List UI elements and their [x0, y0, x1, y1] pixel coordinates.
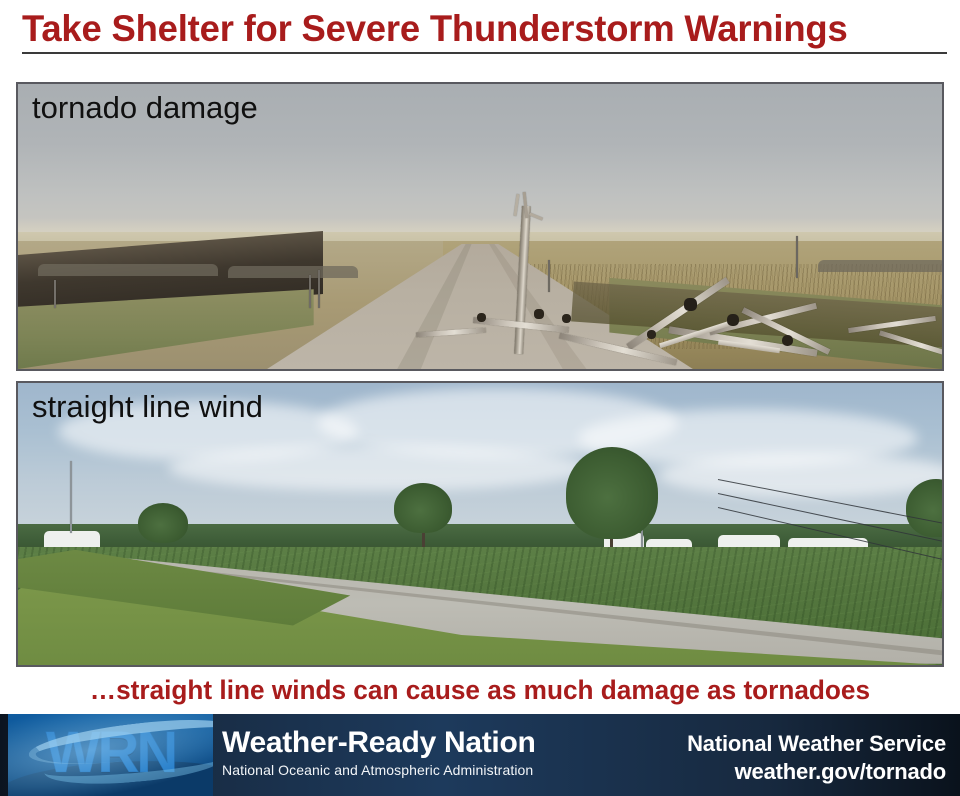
distant-treeline-mid	[228, 266, 358, 278]
cloud	[168, 445, 588, 491]
photo-caption-tornado: tornado damage	[32, 89, 258, 127]
title-bar: Take Shelter for Severe Thunderstorm War…	[0, 0, 960, 54]
slide-root: Take Shelter for Severe Thunderstorm War…	[0, 0, 960, 796]
distant-pole	[309, 275, 311, 308]
footer-brand: Weather-Ready Nation National Oceanic an…	[222, 726, 536, 780]
distant-pole	[796, 236, 798, 278]
distant-treeline-left	[38, 264, 218, 276]
distant-pole	[548, 260, 550, 292]
wrn-logo: WRN	[8, 714, 213, 796]
agency-name: National Weather Service	[687, 730, 946, 758]
straight-line-wind-photo: straight line wind	[16, 381, 944, 667]
title-divider	[22, 52, 947, 54]
distant-treeline-right	[818, 260, 944, 272]
footer-bar: WRN Weather-Ready Nation National Oceani…	[0, 714, 960, 796]
brand-subtitle: National Oceanic and Atmospheric Adminis…	[222, 760, 536, 780]
tree	[394, 483, 452, 533]
tree	[566, 447, 658, 539]
agency-info: National Weather Service weather.gov/tor…	[687, 730, 946, 786]
transformer-can	[684, 298, 697, 311]
tornado-damage-photo: tornado damage	[16, 82, 944, 371]
cloud	[658, 453, 944, 497]
distant-pole	[54, 280, 56, 308]
insulator	[534, 309, 544, 319]
farm-building	[44, 531, 100, 547]
insulator	[562, 314, 571, 323]
transformer-can	[782, 335, 793, 346]
agency-url[interactable]: weather.gov/tornado	[687, 758, 946, 786]
insulator	[647, 330, 656, 339]
tree	[138, 503, 188, 543]
insulator	[477, 313, 486, 322]
distant-pole	[318, 270, 320, 308]
radio-tower	[70, 461, 72, 533]
transformer-can	[727, 314, 739, 326]
brand-title: Weather-Ready Nation	[222, 726, 536, 760]
page-title: Take Shelter for Severe Thunderstorm War…	[22, 9, 932, 49]
summary-caption: …straight line winds can cause as much d…	[14, 672, 945, 708]
photo-caption-wind: straight line wind	[32, 388, 263, 426]
